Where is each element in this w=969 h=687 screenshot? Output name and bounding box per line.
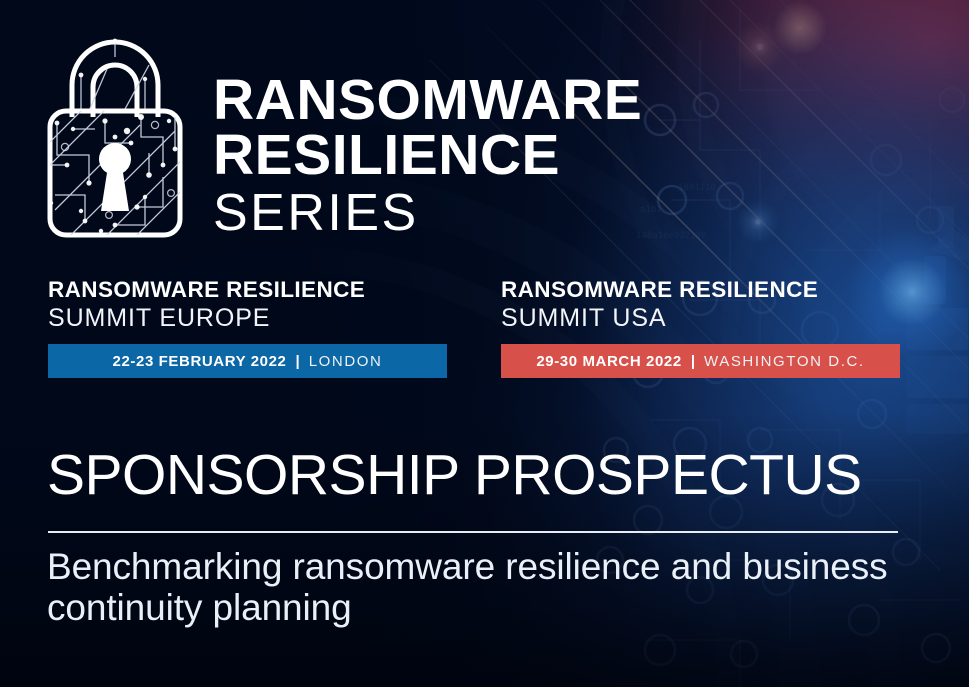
- event-summit-usa: RANSOMWARE RESILIENCE SUMMIT USA 29-30 M…: [501, 277, 900, 378]
- event-summit-europe: RANSOMWARE RESILIENCE SUMMIT EUROPE 22-2…: [48, 277, 447, 378]
- page-title: SPONSORSHIP PROSPECTUS: [47, 447, 862, 504]
- wordmark-line-1: RANSOMWARE: [213, 73, 642, 128]
- event-date-badge-europe: 22-23 FEBRUARY 2022 | LONDON: [48, 344, 447, 378]
- event-subtitle: SUMMIT EUROPE: [48, 303, 447, 333]
- event-list: RANSOMWARE RESILIENCE SUMMIT EUROPE 22-2…: [48, 277, 908, 378]
- sponsorship-prospectus-cover: 1001110 a1b7 14Ba1ee932100: [0, 0, 969, 687]
- event-subtitle: SUMMIT USA: [501, 303, 900, 333]
- wordmark-line-3: SERIES: [213, 186, 642, 241]
- wordmark-line-2: RESILIENCE: [213, 128, 642, 183]
- page-subtitle: Benchmarking ransomware resilience and b…: [47, 546, 927, 629]
- event-dates: 29-30 MARCH 2022: [536, 353, 682, 370]
- svg-text:14Ba1ee932100: 14Ba1ee932100: [636, 231, 706, 241]
- event-name: RANSOMWARE RESILIENCE: [48, 277, 447, 302]
- svg-text:1001110: 1001110: [678, 183, 716, 193]
- badge-separator: |: [691, 353, 695, 370]
- event-city: WASHINGTON D.C.: [704, 353, 865, 370]
- event-dates: 22-23 FEBRUARY 2022: [113, 353, 287, 370]
- padlock-circuit-icon: [45, 25, 185, 240]
- wordmark: RANSOMWARE RESILIENCE SERIES: [213, 73, 642, 240]
- event-date-badge-usa: 29-30 MARCH 2022 | WASHINGTON D.C.: [501, 344, 900, 378]
- event-name: RANSOMWARE RESILIENCE: [501, 277, 900, 302]
- badge-separator: |: [296, 353, 300, 370]
- title-divider: [48, 531, 898, 533]
- svg-text:a1b7: a1b7: [640, 205, 662, 215]
- event-city: LONDON: [309, 353, 383, 370]
- brand-lockup: RANSOMWARE RESILIENCE SERIES: [45, 25, 642, 240]
